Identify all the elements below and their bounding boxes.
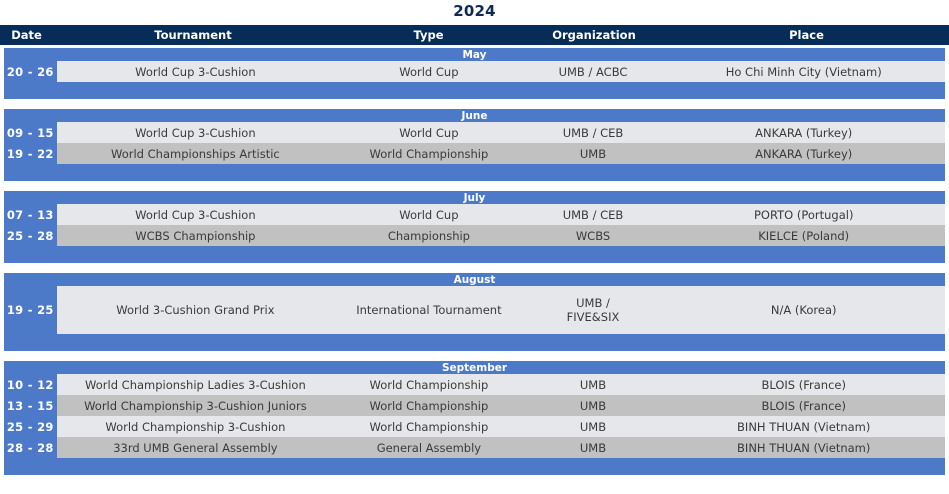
table-row[interactable]: 28 - 2833rd UMB General AssemblyGeneral … xyxy=(4,437,945,458)
cell-date: 19 - 22 xyxy=(4,143,57,164)
month-blocks: May20 - 26World Cup 3-CushionWorld CupUM… xyxy=(0,48,949,485)
column-header-type: Type xyxy=(333,25,524,45)
table-row[interactable]: 19 - 25World 3-Cushion Grand PrixInterna… xyxy=(4,286,945,334)
column-header-tournament: Tournament xyxy=(53,25,333,45)
table-row[interactable]: 25 - 28WCBS ChampionshipChampionshipWCBS… xyxy=(4,225,945,246)
month-block: June09 - 15World Cup 3-CushionWorld CupU… xyxy=(4,109,945,181)
month-label: July xyxy=(0,191,949,204)
cell-date: 07 - 13 xyxy=(4,204,57,225)
month-rows: 20 - 26World Cup 3-CushionWorld CupUMB /… xyxy=(4,61,945,82)
column-header-date: Date xyxy=(0,25,53,45)
cell-place: N/A (Korea) xyxy=(662,286,945,334)
cell-tournament: WCBS Championship xyxy=(57,225,335,246)
table-row[interactable]: 19 - 22World Championships ArtisticWorld… xyxy=(4,143,945,164)
cell-type: World Championship xyxy=(334,374,523,395)
cell-organization: UMB xyxy=(524,143,663,164)
cell-organization: UMB / CEB xyxy=(524,204,663,225)
month-rows: 19 - 25World 3-Cushion Grand PrixInterna… xyxy=(4,286,945,334)
cell-type: World Championship xyxy=(334,143,523,164)
month-label: June xyxy=(0,109,949,122)
cell-type: General Assembly xyxy=(334,437,523,458)
month-label: May xyxy=(0,48,949,61)
cell-date: 10 - 12 xyxy=(4,374,57,395)
cell-organization: WCBS xyxy=(524,225,663,246)
table-header-row: Date Tournament Type Organization Place xyxy=(0,25,949,45)
cell-tournament: World Cup 3-Cushion xyxy=(57,122,335,143)
table-row[interactable]: 25 - 29World Championship 3-CushionWorld… xyxy=(4,416,945,437)
table-row[interactable]: 20 - 26World Cup 3-CushionWorld CupUMB /… xyxy=(4,61,945,82)
cell-place: Ho Chi Minh City (Vietnam) xyxy=(662,61,945,82)
page-title: 2024 xyxy=(0,2,949,20)
cell-place: PORTO (Portugal) xyxy=(662,204,945,225)
cell-organization: UMB xyxy=(524,437,663,458)
cell-date: 09 - 15 xyxy=(4,122,57,143)
cell-tournament: World Championship Ladies 3-Cushion xyxy=(57,374,335,395)
cell-date: 20 - 26 xyxy=(4,61,57,82)
cell-organization: UMB / CEB xyxy=(524,122,663,143)
cell-place: ANKARA (Turkey) xyxy=(662,143,945,164)
cell-place: BLOIS (France) xyxy=(662,374,945,395)
cell-tournament: World 3-Cushion Grand Prix xyxy=(57,286,335,334)
cell-tournament: 33rd UMB General Assembly xyxy=(57,437,335,458)
cell-place: BLOIS (France) xyxy=(662,395,945,416)
cell-type: World Championship xyxy=(334,416,523,437)
cell-place: BINH THUAN (Vietnam) xyxy=(662,437,945,458)
month-block: July07 - 13World Cup 3-CushionWorld CupU… xyxy=(4,191,945,263)
cell-organization: UMB xyxy=(524,374,663,395)
cell-date: 25 - 29 xyxy=(4,416,57,437)
month-block: August19 - 25World 3-Cushion Grand PrixI… xyxy=(4,273,945,351)
cell-date: 13 - 15 xyxy=(4,395,57,416)
calendar-page: 2024 Date Tournament Type Organization P… xyxy=(0,0,949,494)
table-row[interactable]: 09 - 15World Cup 3-CushionWorld CupUMB /… xyxy=(4,122,945,143)
cell-tournament: World Cup 3-Cushion xyxy=(57,204,335,225)
cell-tournament: World Championship 3-Cushion xyxy=(57,416,335,437)
cell-date: 25 - 28 xyxy=(4,225,57,246)
cell-type: World Cup xyxy=(334,204,523,225)
cell-organization: UMB / FIVE&SIX xyxy=(524,286,663,334)
cell-tournament: World Championships Artistic xyxy=(57,143,335,164)
month-label: September xyxy=(0,361,949,374)
cell-organization: UMB xyxy=(524,416,663,437)
month-label: August xyxy=(0,273,949,286)
table-row[interactable]: 10 - 12World Championship Ladies 3-Cushi… xyxy=(4,374,945,395)
cell-date: 19 - 25 xyxy=(4,286,57,334)
month-rows: 10 - 12World Championship Ladies 3-Cushi… xyxy=(4,374,945,458)
cell-organization: UMB xyxy=(524,395,663,416)
cell-tournament: World Cup 3-Cushion xyxy=(57,61,335,82)
month-block: September10 - 12World Championship Ladie… xyxy=(4,361,945,475)
cell-type: Championship xyxy=(334,225,523,246)
cell-organization: UMB / ACBC xyxy=(524,61,663,82)
cell-place: KIELCE (Poland) xyxy=(662,225,945,246)
cell-date: 28 - 28 xyxy=(4,437,57,458)
month-block: May20 - 26World Cup 3-CushionWorld CupUM… xyxy=(4,48,945,99)
cell-type: International Tournament xyxy=(334,286,523,334)
cell-type: World Cup xyxy=(334,61,523,82)
cell-tournament: World Championship 3-Cushion Juniors xyxy=(57,395,335,416)
column-header-organization: Organization xyxy=(524,25,664,45)
cell-place: ANKARA (Turkey) xyxy=(662,122,945,143)
cell-place: BINH THUAN (Vietnam) xyxy=(662,416,945,437)
table-row[interactable]: 07 - 13World Cup 3-CushionWorld CupUMB /… xyxy=(4,204,945,225)
column-header-place: Place xyxy=(664,25,949,45)
table-row[interactable]: 13 - 15World Championship 3-Cushion Juni… xyxy=(4,395,945,416)
cell-type: World Cup xyxy=(334,122,523,143)
month-rows: 09 - 15World Cup 3-CushionWorld CupUMB /… xyxy=(4,122,945,164)
month-rows: 07 - 13World Cup 3-CushionWorld CupUMB /… xyxy=(4,204,945,246)
cell-type: World Championship xyxy=(334,395,523,416)
